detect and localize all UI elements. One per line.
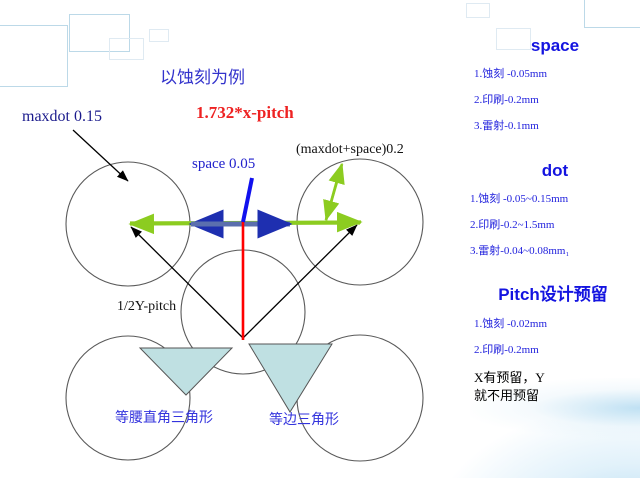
blue-space-pointer: [243, 178, 252, 222]
diagram-title: 以蚀刻为例: [160, 68, 245, 88]
triangle-equilateral: [249, 344, 332, 412]
maxdot-label: maxdot 0.15: [22, 108, 102, 126]
half-y-pitch-label: 1/2Y-pitch: [117, 299, 176, 315]
panel-item: 1.蚀刻 -0.02mm: [460, 315, 640, 331]
panel-heading-pitch: Pitch设计预留: [460, 280, 640, 305]
panel-item: 2.印刷-0.2mm: [460, 341, 640, 357]
panel-item: 3.雷射-0.04~0.08mm₁: [460, 242, 640, 258]
panel-item: 1.蚀刻 -0.05mm: [460, 65, 640, 81]
panel-note-line-2: 就不用预留: [474, 387, 640, 405]
panel-heading-space: space: [460, 36, 640, 56]
panel-item: 2.印刷-0.2mm: [460, 91, 640, 107]
maxdot-space-label: (maxdot+space)0.2: [296, 142, 404, 158]
info-panel: space 1.蚀刻 -0.05mm 2.印刷-0.2mm 3.雷射-0.1mm…: [460, 36, 640, 404]
panel-section-space: space 1.蚀刻 -0.05mm 2.印刷-0.2mm 3.雷射-0.1mm: [460, 36, 640, 133]
panel-heading-dot: dot: [460, 161, 640, 181]
green-diagonal-arrow: [326, 164, 342, 220]
panel-section-pitch: Pitch设计预留 1.蚀刻 -0.02mm 2.印刷-0.2mm: [460, 280, 640, 357]
panel-note-line-1: X有预留，Y: [474, 369, 640, 387]
panel-item: 1.蚀刻 -0.05~0.15mm: [460, 190, 640, 206]
slide-canvas: 以蚀刻为例 maxdot 0.15 1.732*x-pitch space 0.…: [0, 0, 640, 478]
panel-item: 2.印刷-0.2~1.5mm: [460, 216, 640, 232]
maxdot-pointer: [73, 130, 128, 181]
triangle-right-label: 等边三角形: [269, 411, 339, 427]
triangle-isosceles-right: [140, 348, 232, 395]
panel-item: 3.雷射-0.1mm: [460, 117, 640, 133]
panel-section-dot: dot 1.蚀刻 -0.05~0.15mm 2.印刷-0.2~1.5mm 3.雷…: [460, 161, 640, 258]
pitch-formula-label: 1.732*x-pitch: [196, 103, 294, 123]
space-label: space 0.05: [192, 156, 255, 173]
triangle-left-label: 等腰直角三角形: [115, 409, 213, 425]
panel-note: X有预留，Y 就不用预留: [460, 369, 640, 404]
